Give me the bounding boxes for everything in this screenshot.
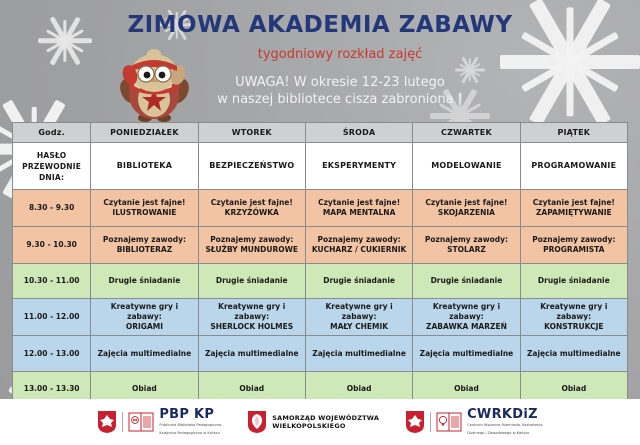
header-time-label: Godz.: [13, 123, 91, 143]
schedule-cell: Drugie śniadanie: [198, 264, 305, 299]
row-time-1: 8.30 - 9.30: [13, 190, 91, 227]
poland-eagle-crest-icon: [97, 410, 117, 434]
logo-pbp-sub1: Publiczna Biblioteka Pedagogiczna: [159, 423, 221, 428]
schedule-row: 12.00 - 13.00Zajęcia multimedialneZajęci…: [13, 336, 628, 372]
theme-day-2: BEZPIECZEŃSTWO: [198, 143, 305, 190]
row-time-2: 9.30 - 10.30: [13, 227, 91, 264]
logo-cwrkdiz-sub2: Dualnego i Zawodowego w Kaliszu: [467, 431, 543, 436]
schedule-row: 11.00 - 12.00Kreatywne gry i zabawy:ORIG…: [13, 299, 628, 336]
schedule-cell: Drugie śniadanie: [520, 264, 627, 299]
open-book-owl-icon: [128, 411, 154, 433]
wielkopolska-eagle-crest-icon: [247, 410, 267, 434]
notice-line-1: UWAGA! W okresie 12-23 lutego: [170, 74, 510, 91]
logo-divider: [430, 412, 431, 432]
poster-notice: UWAGA! W okresie 12-23 lutego w naszej b…: [170, 74, 510, 108]
schedule-cell: Zajęcia multimedialne: [198, 336, 305, 372]
logo-pbp-sub2: Książnica Pedagogiczna w Kaliszu: [159, 431, 221, 436]
header-day-1: PONIEDZIAŁEK: [91, 123, 198, 143]
schedule-row: 10.30 - 11.00Drugie śniadanieDrugie śnia…: [13, 264, 628, 299]
row-time-3: 10.30 - 11.00: [13, 264, 91, 299]
header-day-3: ŚRODA: [305, 123, 412, 143]
schedule-table: Godz.PONIEDZIAŁEKWTOREKŚRODACZWARTEKPIĄT…: [12, 122, 628, 444]
schedule-row: 8.30 - 9.30Czytanie jest fajne!ILUSTROWA…: [13, 190, 628, 227]
schedule-cell: Czytanie jest fajne!KRZYŻÓWKA: [198, 190, 305, 227]
winter-academy-poster: ZIMOWA AKADEMIA ZABAWY tygodniowy rozkła…: [0, 0, 640, 445]
schedule-theme-row: HASŁOPRZEWODNIEDNIA:BIBLIOTEKABEZPIECZEŃ…: [13, 143, 628, 190]
schedule-cell: Czytanie jest fajne!MAPA MENTALNA: [305, 190, 412, 227]
logo-samorzad-text: SAMORZĄD WOJEWÓDZTWA WIELKOPOLSKIEGO: [272, 414, 379, 430]
logo-pbp-name: PBP KP: [159, 408, 221, 421]
schedule-cell: Zajęcia multimedialne: [91, 336, 198, 372]
schedule-cell: Kreatywne gry i zabawy:MAŁY CHEMIK: [305, 299, 412, 336]
logo-pbp-text: PBP KP Publiczna Biblioteka Pedagogiczna…: [159, 408, 221, 435]
logo-pbp-kp: PBP KP Publiczna Biblioteka Pedagogiczna…: [97, 408, 221, 435]
logo-cwrkdiz-text: CWRKDiZ Centrum Wsparcia Rzemiosła, Kszt…: [467, 408, 543, 435]
schedule-cell: Czytanie jest fajne!ILUSTROWANIE: [91, 190, 198, 227]
schedule-cell: Poznajemy zawody:BIBLIOTERAZ: [91, 227, 198, 264]
footer-logos: PBP KP Publiczna Biblioteka Pedagogiczna…: [0, 399, 640, 445]
logo-cwrkdiz: CWRKDiZ Centrum Wsparcia Rzemiosła, Kszt…: [405, 408, 543, 435]
theme-day-4: MODELOWANIE: [413, 143, 520, 190]
logo-cwrkdiz-sub1: Centrum Wsparcia Rzemiosła, Kształcenia: [467, 423, 543, 428]
theme-row-label: HASŁOPRZEWODNIEDNIA:: [13, 143, 91, 190]
schedule-cell: Drugie śniadanie: [413, 264, 520, 299]
schedule-cell: Kreatywne gry i zabawy:ORIGAMI: [91, 299, 198, 336]
theme-day-1: BIBLIOTEKA: [91, 143, 198, 190]
owl-mascot: [115, 47, 195, 123]
schedule-cell: Czytanie jest fajne!ZAPAMIĘTYWANIE: [520, 190, 627, 227]
schedule-cell: Drugie śniadanie: [91, 264, 198, 299]
logo-samorzad-line1: SAMORZĄD WOJEWÓDZTWA: [272, 414, 379, 422]
row-time-4: 11.00 - 12.00: [13, 299, 91, 336]
schedule-cell: Poznajemy zawody:PROGRAMISTA: [520, 227, 627, 264]
header-day-4: CZWARTEK: [413, 123, 520, 143]
schedule-cell: Zajęcia multimedialne: [305, 336, 412, 372]
header-day-2: WTOREK: [198, 123, 305, 143]
schedule-row: 9.30 - 10.30Poznajemy zawody:BIBLIOTERAZ…: [13, 227, 628, 264]
poland-eagle-crest-icon: [405, 410, 425, 434]
logo-divider: [122, 412, 123, 432]
schedule-cell: Czytanie jest fajne!SKOJARZENIA: [413, 190, 520, 227]
theme-day-3: EKSPERYMENTY: [305, 143, 412, 190]
schedule-cell: Kreatywne gry i zabawy:ZABAWKA MARZEŃ: [413, 299, 520, 336]
schedule-cell: Zajęcia multimedialne: [413, 336, 520, 372]
logo-samorzad: SAMORZĄD WOJEWÓDZTWA WIELKOPOLSKIEGO: [247, 410, 379, 434]
schedule-cell: Poznajemy zawody:KUCHARZ / CUKIERNIK: [305, 227, 412, 264]
poster-title: ZIMOWA AKADEMIA ZABAWY: [0, 12, 640, 38]
schedule-cell: Kreatywne gry i zabawy:SHERLOCK HOLMES: [198, 299, 305, 336]
open-book-lightbulb-icon: [436, 411, 462, 433]
schedule-cell: Kreatywne gry i zabawy:KONSTRUKCJE: [520, 299, 627, 336]
owl-plush-icon: [115, 47, 195, 123]
row-time-5: 12.00 - 13.00: [13, 336, 91, 372]
header-day-5: PIĄTEK: [520, 123, 627, 143]
logo-samorzad-line2: WIELKOPOLSKIEGO: [272, 422, 379, 430]
schedule-cell: Zajęcia multimedialne: [520, 336, 627, 372]
schedule-cell: Poznajemy zawody:SŁUŻBY MUNDUROWE: [198, 227, 305, 264]
notice-line-2: w naszej bibliotece cisza zabroniona !: [170, 91, 510, 108]
logo-cwrkdiz-name: CWRKDiZ: [467, 408, 543, 421]
schedule-cell: Poznajemy zawody:STOLARZ: [413, 227, 520, 264]
schedule-cell: Drugie śniadanie: [305, 264, 412, 299]
theme-day-5: PROGRAMOWANIE: [520, 143, 627, 190]
poster-subtitle: tygodniowy rozkład zajęć: [190, 47, 490, 62]
schedule-day-header-row: Godz.PONIEDZIAŁEKWTOREKŚRODACZWARTEKPIĄT…: [13, 123, 628, 143]
